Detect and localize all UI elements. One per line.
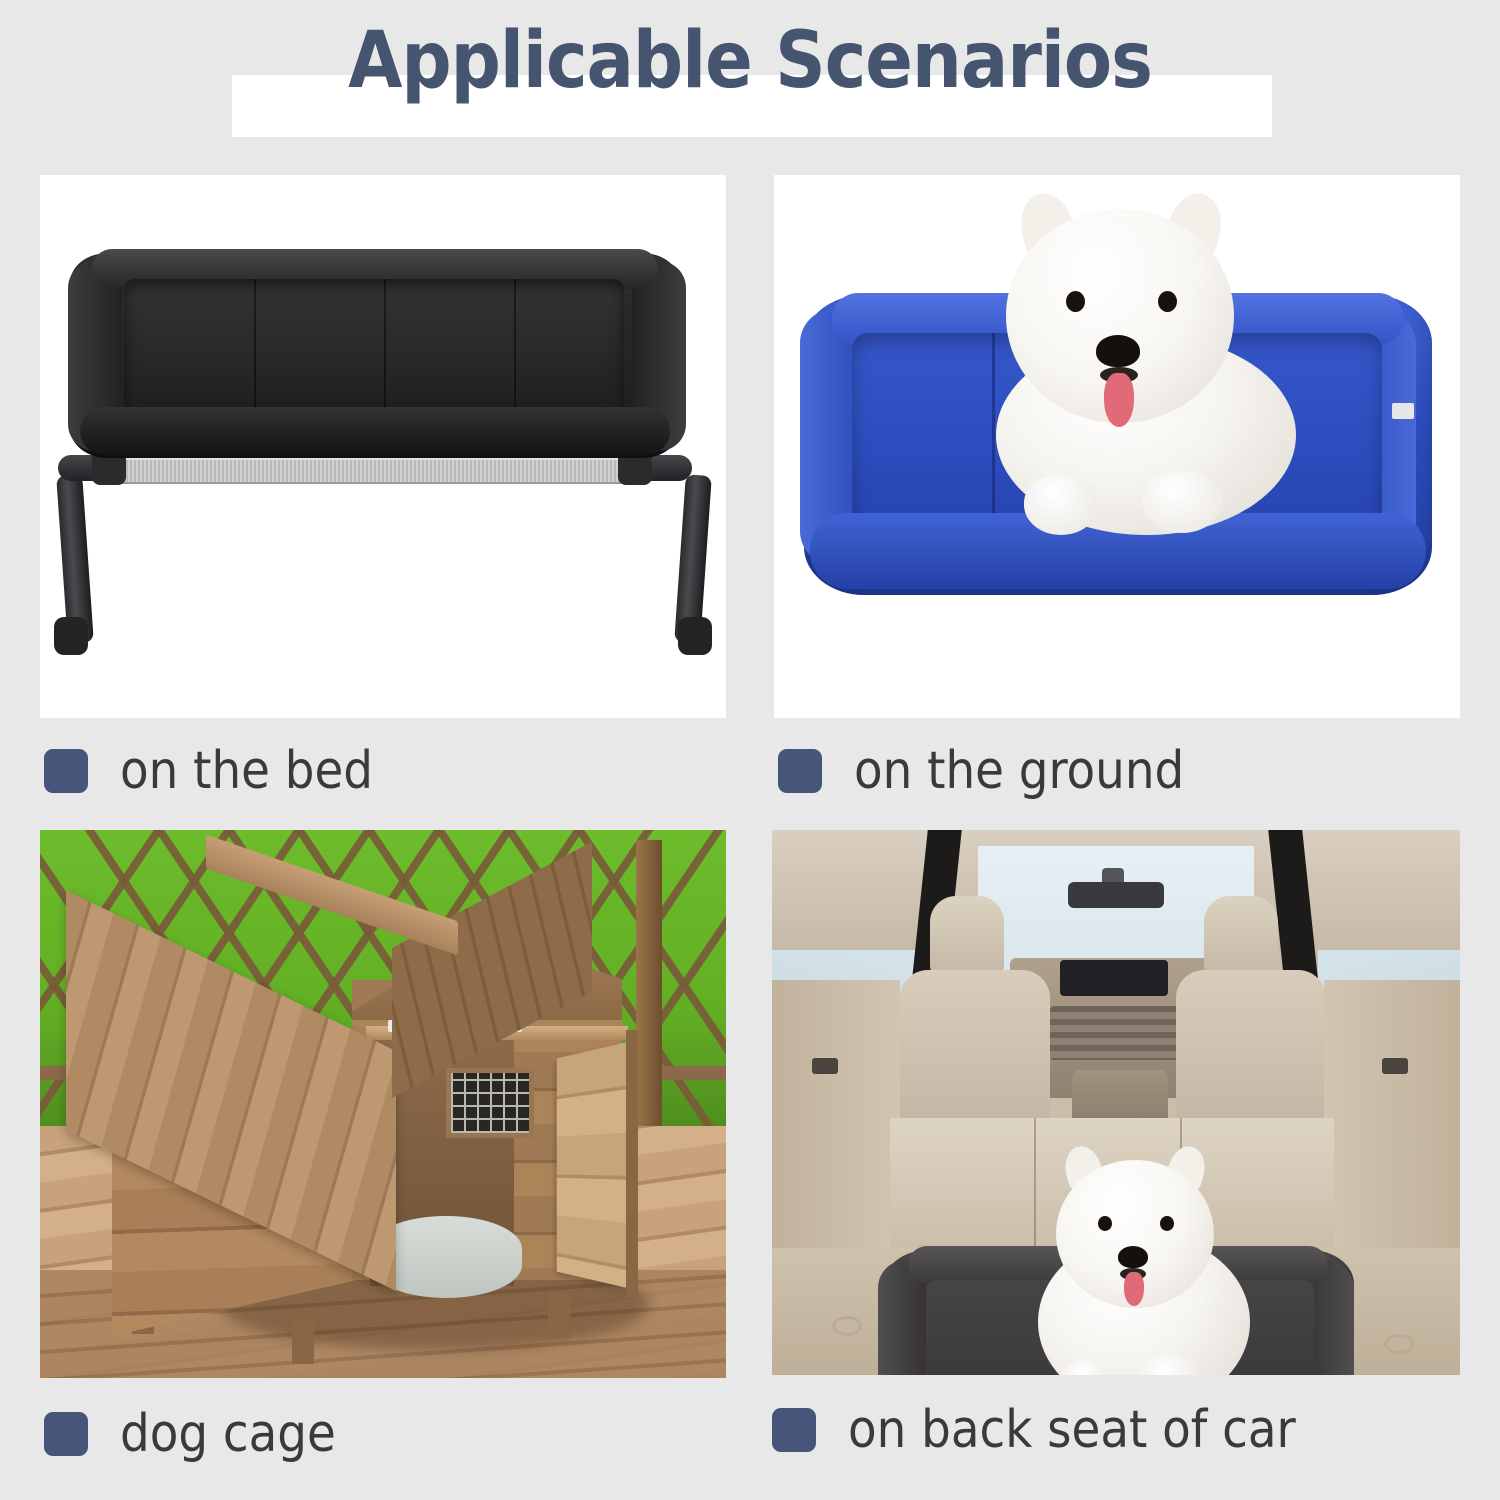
cot-mat-seam [384, 279, 386, 411]
wooden-dog-house-photo [40, 830, 726, 1378]
scenario-image-on-back-seat-of-car [772, 830, 1460, 1375]
dashboard-screen [1060, 960, 1168, 996]
dog-paw-right [1142, 471, 1222, 533]
blue-mat-seam [992, 333, 995, 543]
scenario-image-dog-cage [40, 830, 726, 1378]
dog-eye-right [1158, 291, 1177, 312]
cargo-hook [812, 1058, 838, 1074]
bullet-square-icon [44, 749, 88, 793]
dog-tongue [1124, 1272, 1144, 1306]
dog-house-window [446, 1068, 534, 1138]
dog-eye-left [1098, 1216, 1112, 1231]
scenario-caption-on-the-ground: on the ground [778, 745, 1184, 797]
dog-tongue [1104, 373, 1134, 427]
dog-paw-left [1024, 475, 1098, 535]
bullet-square-icon [772, 1408, 816, 1452]
dog-eye-left [1066, 291, 1085, 312]
scenario-caption-on-the-bed: on the bed [44, 745, 373, 797]
headrest-right [1204, 896, 1278, 976]
dog-house-leg [292, 1318, 314, 1364]
dog-eye-right [1160, 1216, 1174, 1231]
cot-mat-seam [514, 279, 516, 411]
elevated-dog-cot-illustration [40, 175, 726, 718]
cot-foot-right [678, 617, 712, 655]
dog-house-leg [548, 1292, 570, 1338]
scenario-image-on-the-bed [40, 175, 726, 718]
caption-label: on the ground [854, 745, 1184, 797]
window-grid [451, 1073, 529, 1133]
scenario-caption-dog-cage: dog cage [44, 1408, 336, 1460]
dashboard-vents [1050, 1006, 1178, 1060]
fabric-tag [1392, 403, 1414, 419]
bullet-square-icon [44, 1412, 88, 1456]
tie-down-ring [1384, 1334, 1414, 1354]
fence-post [636, 840, 662, 1140]
caption-label: dog cage [120, 1408, 336, 1460]
dog-house-open-door [557, 1040, 636, 1290]
blue-pet-mat-with-dog-illustration [774, 175, 1460, 718]
cot-foot-left [54, 617, 88, 655]
tie-down-ring [832, 1316, 862, 1336]
caption-label: on the bed [120, 745, 373, 797]
cot-bolster-rim-bottom [80, 407, 670, 455]
cargo-hook [1382, 1058, 1408, 1074]
bullet-square-icon [778, 749, 822, 793]
cot-mesh-fabric [112, 458, 636, 484]
headrest-left [930, 896, 1004, 976]
scenario-image-on-the-ground [774, 175, 1460, 718]
car-cargo-area-photo [772, 830, 1460, 1375]
page-title: Applicable Scenarios [0, 22, 1500, 100]
cot-mat-center-panel [124, 279, 624, 411]
door-frame-post [626, 1030, 638, 1298]
cot-mat-seam [254, 279, 256, 411]
scenario-caption-on-back-seat-of-car: on back seat of car [772, 1404, 1296, 1456]
dog-nose [1096, 335, 1140, 367]
rearview-mirror [1068, 882, 1164, 908]
caption-label: on back seat of car [848, 1404, 1296, 1456]
dog-nose [1118, 1246, 1148, 1268]
seat-fold-seam [1034, 1118, 1036, 1258]
